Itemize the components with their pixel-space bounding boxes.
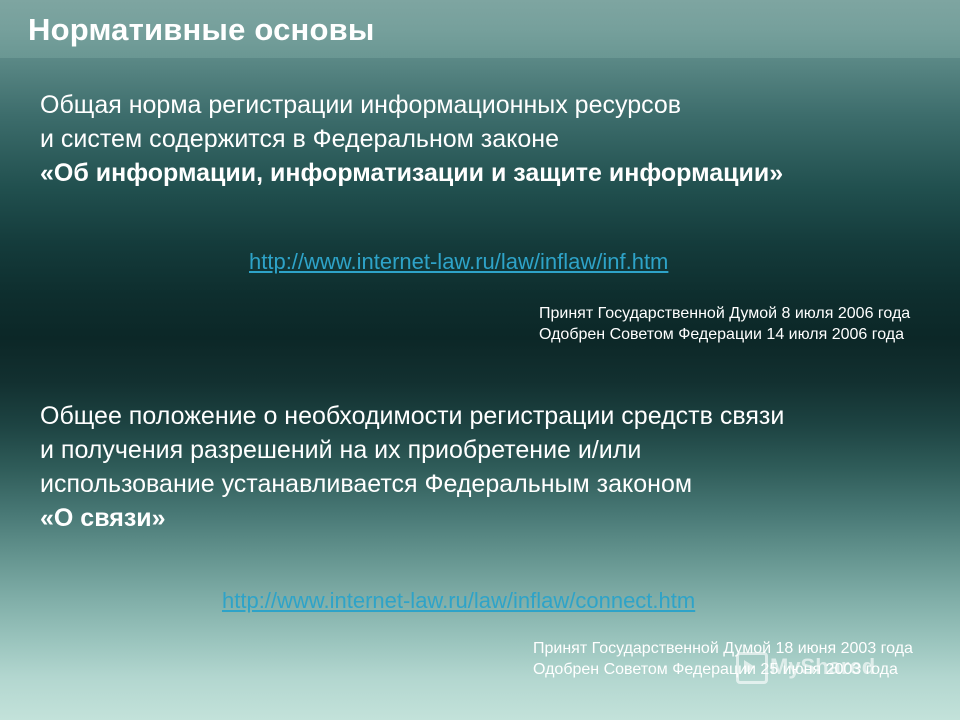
paragraph2-line1: Общее положение о необходимости регистра… xyxy=(40,399,784,433)
adoption-note-information-law: Принят Государственной Думой 8 июля 2006… xyxy=(539,303,910,345)
link-inflaw-inf[interactable]: http://www.internet-law.ru/law/inflaw/in… xyxy=(249,249,668,275)
adoption1-line2: Одобрен Советом Федерации 14 июля 2006 г… xyxy=(539,324,910,345)
adoption1-line1: Принят Государственной Думой 8 июля 2006… xyxy=(539,303,910,324)
paragraph1-line1: Общая норма регистрации информационных р… xyxy=(40,88,783,122)
paragraph2-line4: «О связи» xyxy=(40,501,784,535)
paragraph-communications-law: Общее положение о необходимости регистра… xyxy=(40,399,784,535)
paragraph1-line3: «Об информации, информатизации и защите … xyxy=(40,156,783,190)
watermark: MyShared xyxy=(736,650,926,706)
paragraph2-line2: и получения разрешений на их приобретени… xyxy=(40,433,784,467)
paragraph-information-law: Общая норма регистрации информационных р… xyxy=(40,88,783,190)
slide: Нормативные основы Общая норма регистрац… xyxy=(0,0,960,720)
link-inflaw-connect[interactable]: http://www.internet-law.ru/law/inflaw/co… xyxy=(222,588,695,614)
paragraph1-line2: и систем содержится в Федеральном законе xyxy=(40,122,783,156)
watermark-label: MyShared xyxy=(770,654,875,680)
page-title: Нормативные основы xyxy=(28,12,375,48)
paragraph2-line3: использование устанавливается Федеральны… xyxy=(40,467,784,501)
play-icon xyxy=(736,652,768,684)
